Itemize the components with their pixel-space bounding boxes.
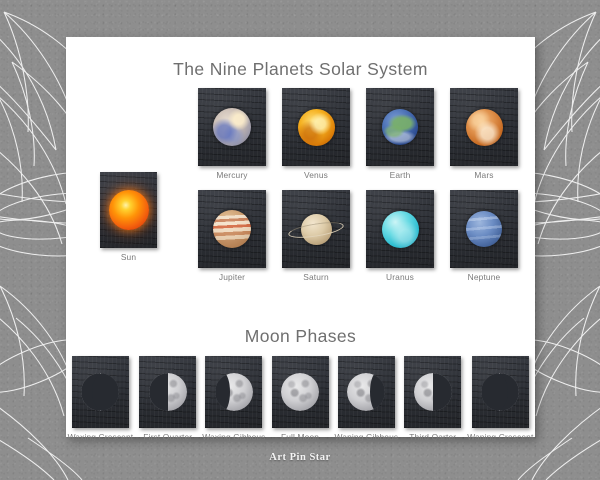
card-waxing-gibbous[interactable]: Waxing Gibbous [202,356,265,442]
sun-label: Sun [121,252,136,262]
moon-terminator [92,373,119,411]
card-saturn[interactable]: Saturn [282,190,350,282]
solar-system-poster: The Nine Planets Solar System Sun Mercur… [66,37,535,437]
waxing-crescent-card-image [72,356,129,428]
neptune-icon [466,211,502,247]
card-waxing-crescent[interactable]: Waxing Crescent [68,356,134,442]
venus-label: Venus [304,170,328,180]
card-mars[interactable]: Mars [450,88,518,180]
watermark-text: Art Pin Star [0,452,600,463]
card-venus[interactable]: Venus [282,88,350,180]
uranus-card-image [366,190,434,268]
card-neptune[interactable]: Neptune [450,190,518,282]
jupiter-label: Jupiter [219,272,245,282]
earth-icon [382,109,418,145]
waning-gibbous-card-image [338,356,395,428]
waxing-crescent-icon [81,373,119,411]
first-quarter-label: First Quarter [143,432,192,442]
card-first-quarter[interactable]: First Quarter [139,356,196,442]
mars-card-image [450,88,518,166]
earth-card-image [366,88,434,166]
moon-phases-row: Waxing Crescent First Quarter Waxing Gib… [66,356,535,442]
solar-system-title: The Nine Planets Solar System [66,59,535,80]
waxing-crescent-label: Waxing Crescent [68,432,134,442]
mercury-card-image [198,88,266,166]
saturn-label: Saturn [303,272,329,282]
saturn-icon [289,209,343,249]
sun-card-image [100,172,157,248]
uranus-label: Uranus [386,272,414,282]
jupiter-card-image [198,190,266,268]
mars-icon [466,109,503,146]
waxing-gibbous-icon [215,373,253,411]
card-mercury[interactable]: Mercury [198,88,266,180]
mercury-label: Mercury [216,170,247,180]
earth-label: Earth [390,170,411,180]
waning-crescent-icon [481,373,519,411]
moon-shadow [149,373,187,411]
saturn-card-image [282,190,350,268]
moon-terminator [215,373,230,411]
jupiter-icon [213,210,251,248]
moon-terminator [370,373,385,411]
card-uranus[interactable]: Uranus [366,190,434,282]
full-moon-label: Full Moon [281,432,319,442]
moon-phases-title: Moon Phases [66,326,535,347]
solar-system-area: Sun Mercury Venus Earth [66,80,535,312]
third-quarter-card-image [404,356,461,428]
mercury-icon [213,108,251,146]
third-quarter-label: Third Qarter [409,432,456,442]
full-moon-icon [281,373,319,411]
moon-shadow [414,373,452,411]
waning-crescent-card-image [472,356,529,428]
waning-gibbous-icon [347,373,385,411]
neptune-label: Neptune [468,272,501,282]
card-jupiter[interactable]: Jupiter [198,190,266,282]
card-third-quarter[interactable]: Third Qarter [404,356,461,442]
planet-grid: Mercury Venus Earth Mars [198,88,518,282]
uranus-icon [382,211,419,248]
waning-crescent-label: Waning Crescent [467,432,533,442]
first-quarter-icon [149,373,187,411]
third-quarter-icon [414,373,452,411]
moon-disc [281,373,319,411]
sun-icon [109,190,149,230]
full-moon-card-image [272,356,329,428]
moon-terminator [481,373,508,411]
card-waning-gibbous[interactable]: Waning Gibbous [335,356,399,442]
venus-icon [298,109,335,146]
mars-label: Mars [474,170,493,180]
venus-card-image [282,88,350,166]
card-sun[interactable]: Sun [100,172,157,262]
card-full-moon[interactable]: Full Moon [272,356,329,442]
waxing-gibbous-card-image [205,356,262,428]
card-waning-crescent[interactable]: Waning Crescent [467,356,533,442]
waxing-gibbous-label: Waxing Gibbous [202,432,265,442]
waning-gibbous-label: Waning Gibbous [335,432,399,442]
first-quarter-card-image [139,356,196,428]
card-earth[interactable]: Earth [366,88,434,180]
neptune-card-image [450,190,518,268]
